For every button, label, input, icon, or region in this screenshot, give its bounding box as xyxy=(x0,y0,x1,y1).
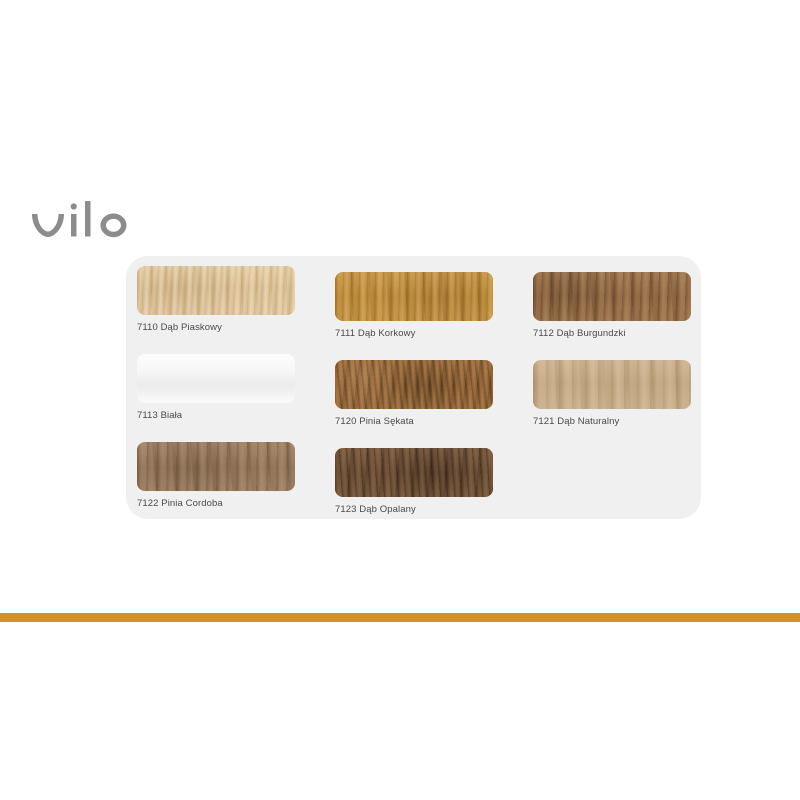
swatch-chip-7122[interactable] xyxy=(137,442,295,491)
swatch-item-7121[interactable]: 7121 Dąb Naturalny xyxy=(533,360,691,427)
wood-grain-texture xyxy=(137,266,295,315)
wood-grain-texture xyxy=(335,448,493,497)
vilo-logo xyxy=(28,196,143,248)
swatch-label-7110: 7110 Dąb Piaskowy xyxy=(137,322,295,333)
solid-colour-surface xyxy=(137,354,295,403)
swatch-chip-7123[interactable] xyxy=(335,448,493,497)
swatch-chip-7121[interactable] xyxy=(533,360,691,409)
swatch-chip-7112[interactable] xyxy=(533,272,691,321)
swatch-label-7113: 7113 Biała xyxy=(137,410,295,421)
swatch-label-7122: 7122 Pinia Cordoba xyxy=(137,498,295,509)
swatch-item-7110[interactable]: 7110 Dąb Piaskowy xyxy=(137,266,295,333)
swatch-label-7121: 7121 Dąb Naturalny xyxy=(533,416,691,427)
colour-swatch-card: 7110 Dąb Piaskowy 7111 Dąb Korkowy 7112 … xyxy=(126,256,701,519)
swatch-chip-7110[interactable] xyxy=(137,266,295,315)
swatch-item-7122[interactable]: 7122 Pinia Cordoba xyxy=(137,442,295,509)
swatch-item-7113[interactable]: 7113 Biała xyxy=(137,354,295,421)
wood-grain-texture xyxy=(335,272,493,321)
swatch-grid: 7110 Dąb Piaskowy 7111 Dąb Korkowy 7112 … xyxy=(126,256,701,519)
swatch-chip-7120[interactable] xyxy=(335,360,493,409)
swatch-label-7120: 7120 Pinia Sękata xyxy=(335,416,493,427)
wood-grain-texture xyxy=(335,360,493,409)
wood-grain-texture xyxy=(137,442,295,491)
accent-bar xyxy=(0,613,800,622)
swatch-chip-7113[interactable] xyxy=(137,354,295,403)
wood-grain-texture xyxy=(533,272,691,321)
swatch-chip-7111[interactable] xyxy=(335,272,493,321)
swatch-label-7111: 7111 Dąb Korkowy xyxy=(335,328,493,339)
wood-grain-texture xyxy=(533,360,691,409)
swatch-label-7123: 7123 Dąb Opalany xyxy=(335,504,493,515)
swatch-item-7112[interactable]: 7112 Dąb Burgundzki xyxy=(533,272,691,339)
swatch-item-7120[interactable]: 7120 Pinia Sękata xyxy=(335,360,493,427)
swatch-item-7111[interactable]: 7111 Dąb Korkowy xyxy=(335,272,493,339)
swatch-label-7112: 7112 Dąb Burgundzki xyxy=(533,328,691,339)
swatch-item-7123[interactable]: 7123 Dąb Opalany xyxy=(335,448,493,515)
